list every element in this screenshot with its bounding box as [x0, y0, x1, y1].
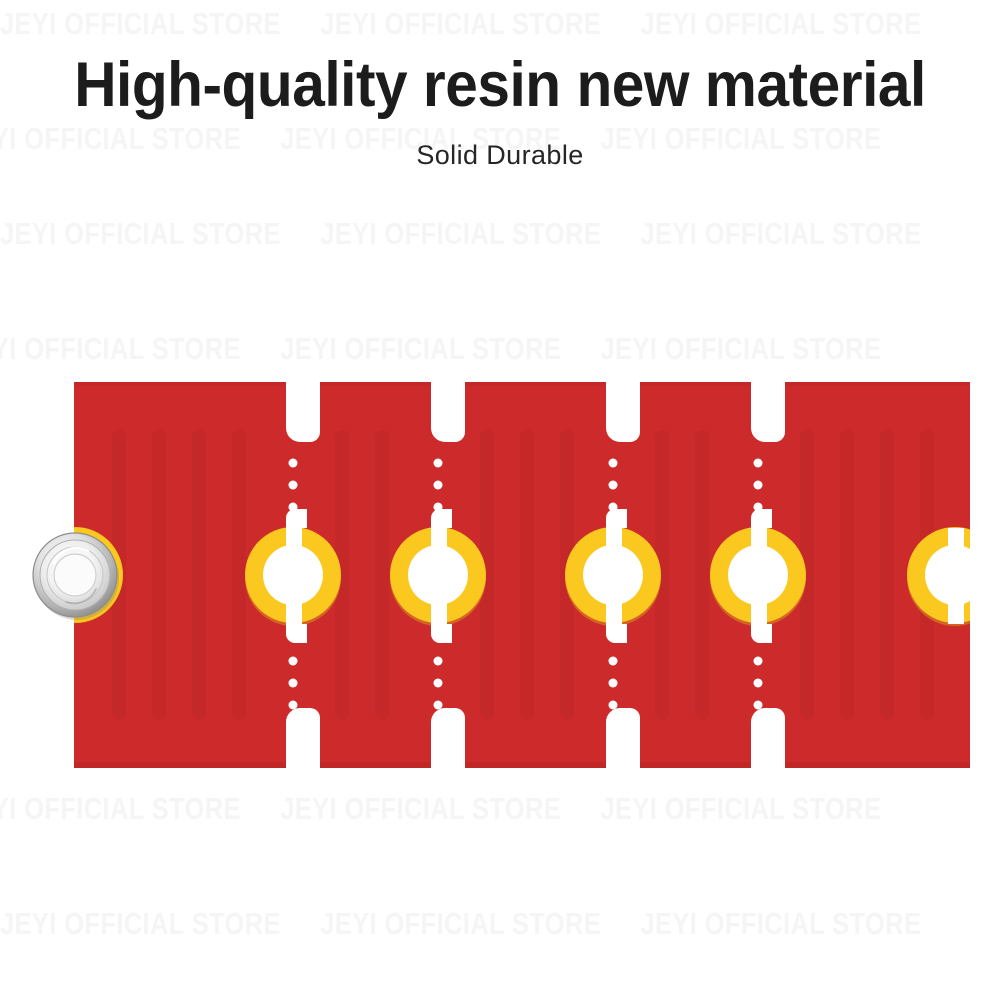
ring-channel: [286, 528, 302, 624]
body-top-shade: [74, 382, 970, 386]
ring-channel: [431, 528, 447, 624]
ring-channel: [948, 528, 964, 624]
page-subtitle: Solid Durable: [0, 118, 1000, 171]
page-title: High-quality resin new material: [35, 0, 965, 118]
product-body: [74, 382, 970, 768]
product-marketing-image: JEYI OFFICIAL STORE JEYI OFFICIAL STORE …: [0, 0, 1000, 1000]
body-bottom-shade: [74, 762, 970, 768]
header-block: High-quality resin new material Solid Du…: [0, 0, 1000, 171]
ring-channel: [751, 528, 767, 624]
stripe-texture: [112, 430, 934, 720]
ring-channel: [606, 528, 622, 624]
right-margin-mask: [970, 370, 1000, 780]
